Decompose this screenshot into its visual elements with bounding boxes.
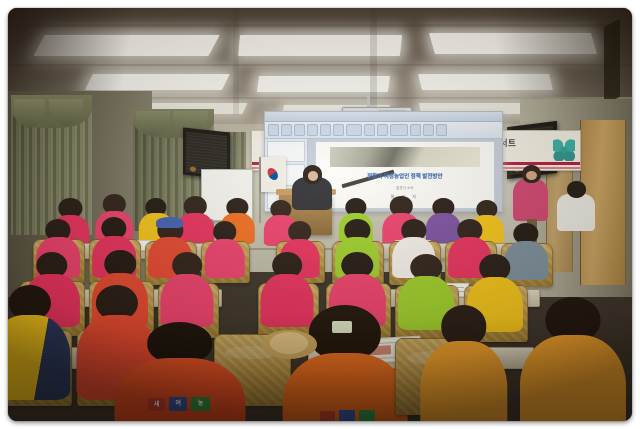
taegukgi-korean-flag <box>261 157 286 192</box>
ceiling-shadow-right <box>445 8 632 97</box>
cap-icon <box>156 217 183 227</box>
slide-subtitle: 발표자 소속 <box>316 186 495 191</box>
foreground-orange-jacket-person: 새 여 농 <box>114 322 245 421</box>
straw-hat <box>261 330 317 359</box>
slide-photo-banner <box>330 147 480 167</box>
ceiling-shadow-left <box>8 8 170 97</box>
presenter-face <box>308 171 319 181</box>
jacket-patch-2: 여 <box>169 397 187 411</box>
ppt-titlebar <box>265 112 502 122</box>
assistant-face <box>526 171 537 180</box>
ppt-ribbon <box>265 122 502 139</box>
foreground-person-jacket <box>114 358 245 421</box>
conference-hall-scene: “여성 크 콘서트 <box>8 8 632 421</box>
staff-head <box>567 181 586 198</box>
slide-title: 전환기 여성농업인 정책 발전방안 <box>323 172 487 180</box>
staff-body <box>557 194 594 231</box>
photo-frame: “여성 크 콘서트 <box>8 8 632 421</box>
jacket-patch-1: 새 <box>148 398 165 411</box>
hair-clip-icon <box>332 321 352 333</box>
jacket-patch-3: 농 <box>191 397 209 411</box>
flower-logo-icon <box>553 139 575 161</box>
foreground-center-person <box>283 305 408 421</box>
assistant-body <box>513 179 547 220</box>
audience-member-yellow-jacket <box>8 285 70 397</box>
photo-mount: “여성 크 콘서트 <box>0 0 640 429</box>
